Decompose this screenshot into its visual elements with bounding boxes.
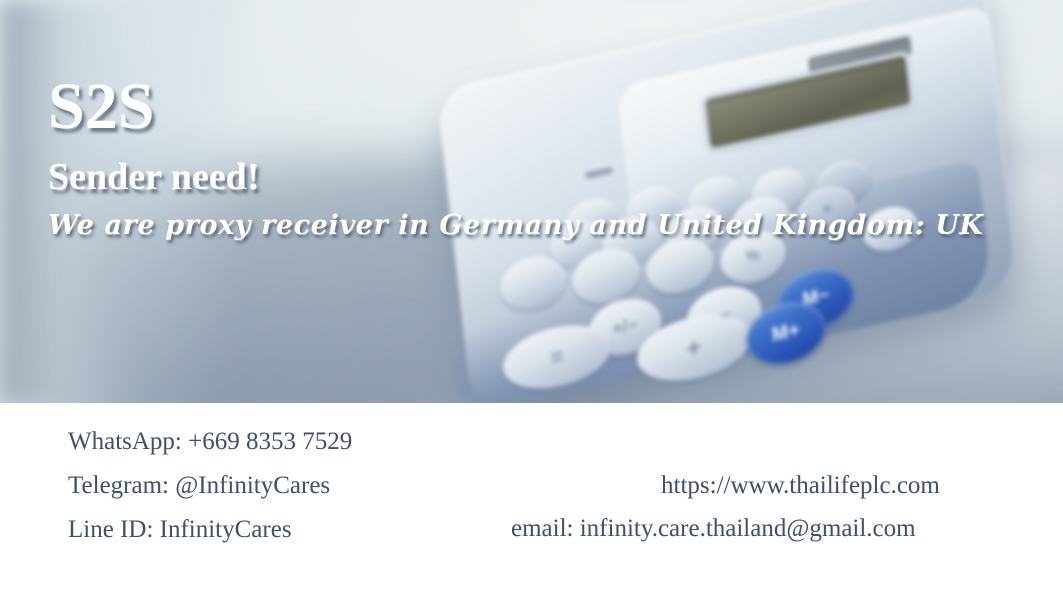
promo-banner: × % +/− − M− = + [0, 0, 1063, 600]
contact-telegram[interactable]: Telegram: @InfinityCares [68, 473, 330, 498]
contact-website[interactable]: https://www.thailifeplc.com [661, 473, 940, 498]
hero-text-block: S2S Sender need! We are proxy receiver i… [48, 74, 1008, 239]
contact-strip: WhatsApp: +669 8353 7529 Telegram: @Infi… [0, 403, 1063, 600]
contact-line-id[interactable]: Line ID: InfinityCares [68, 517, 292, 542]
hero-tagline: We are proxy receiver in Germany and Uni… [48, 212, 1008, 239]
page-title: S2S [48, 74, 1008, 140]
contact-email[interactable]: email: infinity.care.thailand@gmail.com [511, 516, 916, 541]
hero-photo: × % +/− − M− = + [0, 0, 1063, 403]
contact-whatsapp[interactable]: WhatsApp: +669 8353 7529 [68, 429, 352, 454]
hero-subtitle: Sender need! [48, 158, 1008, 196]
